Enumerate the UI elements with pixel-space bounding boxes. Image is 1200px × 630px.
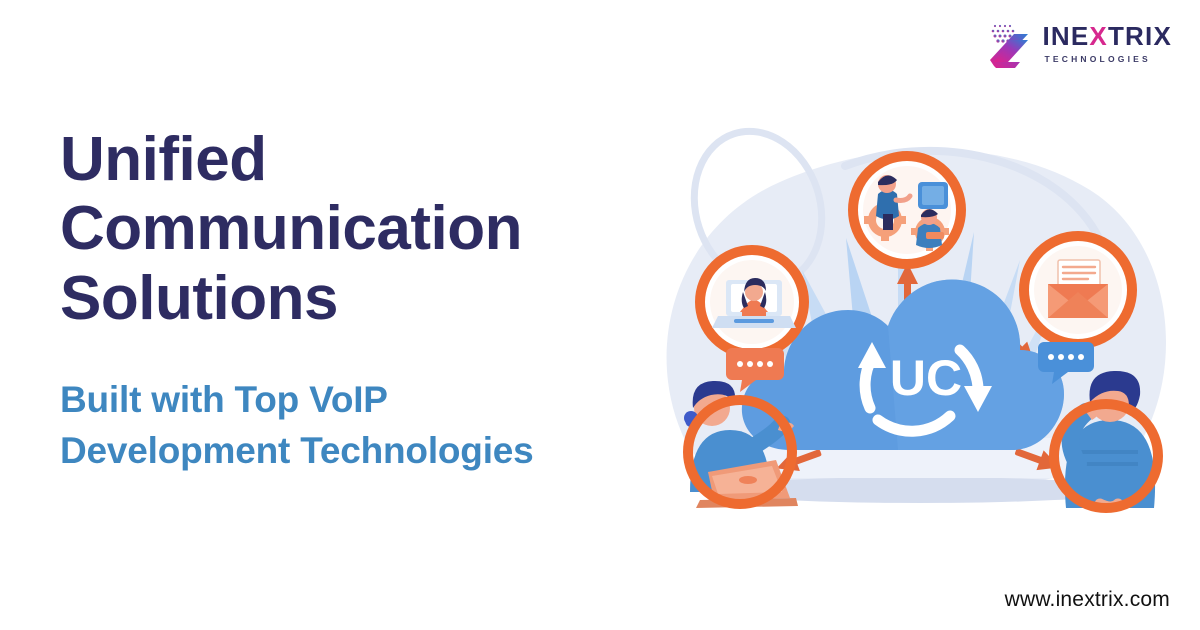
headline-line-2: Communication [60, 194, 670, 263]
website-url[interactable]: www.inextrix.com [1005, 588, 1170, 612]
headline-line-1: Unified [60, 125, 670, 194]
hero-copy: Unified Communication Solutions Built wi… [60, 125, 670, 476]
node-email-messaging[interactable] [1024, 236, 1132, 344]
brand-logo[interactable]: INEXTRIX TECHNOLOGIES [988, 18, 1172, 68]
cloud-label: UC [890, 350, 962, 406]
brand-wordmark: INEXTRIX TECHNOLOGIES [1042, 23, 1172, 64]
uc-cloud-diagram: UC [630, 120, 1190, 540]
headline-line-3: Solutions [60, 264, 670, 333]
page-subtitle: Built with Top VoIP Development Technolo… [60, 375, 670, 476]
hero-illustration: UC [630, 120, 1190, 540]
brand-name-part1: INE [1042, 21, 1089, 51]
node-video-conferencing[interactable] [700, 250, 804, 354]
subhead-line-2: Development Technologies [60, 426, 670, 476]
brand-tagline: TECHNOLOGIES [1044, 54, 1150, 64]
brand-name-part2: TRIX [1108, 21, 1172, 51]
inextrix-arrow-logo-icon [988, 18, 1032, 68]
page-title: Unified Communication Solutions [60, 125, 670, 333]
subhead-line-1: Built with Top VoIP [60, 375, 670, 425]
node-team-collaboration[interactable] [853, 156, 961, 264]
brand-name-accent: X [1089, 21, 1108, 51]
brand-name: INEXTRIX [1042, 23, 1172, 49]
